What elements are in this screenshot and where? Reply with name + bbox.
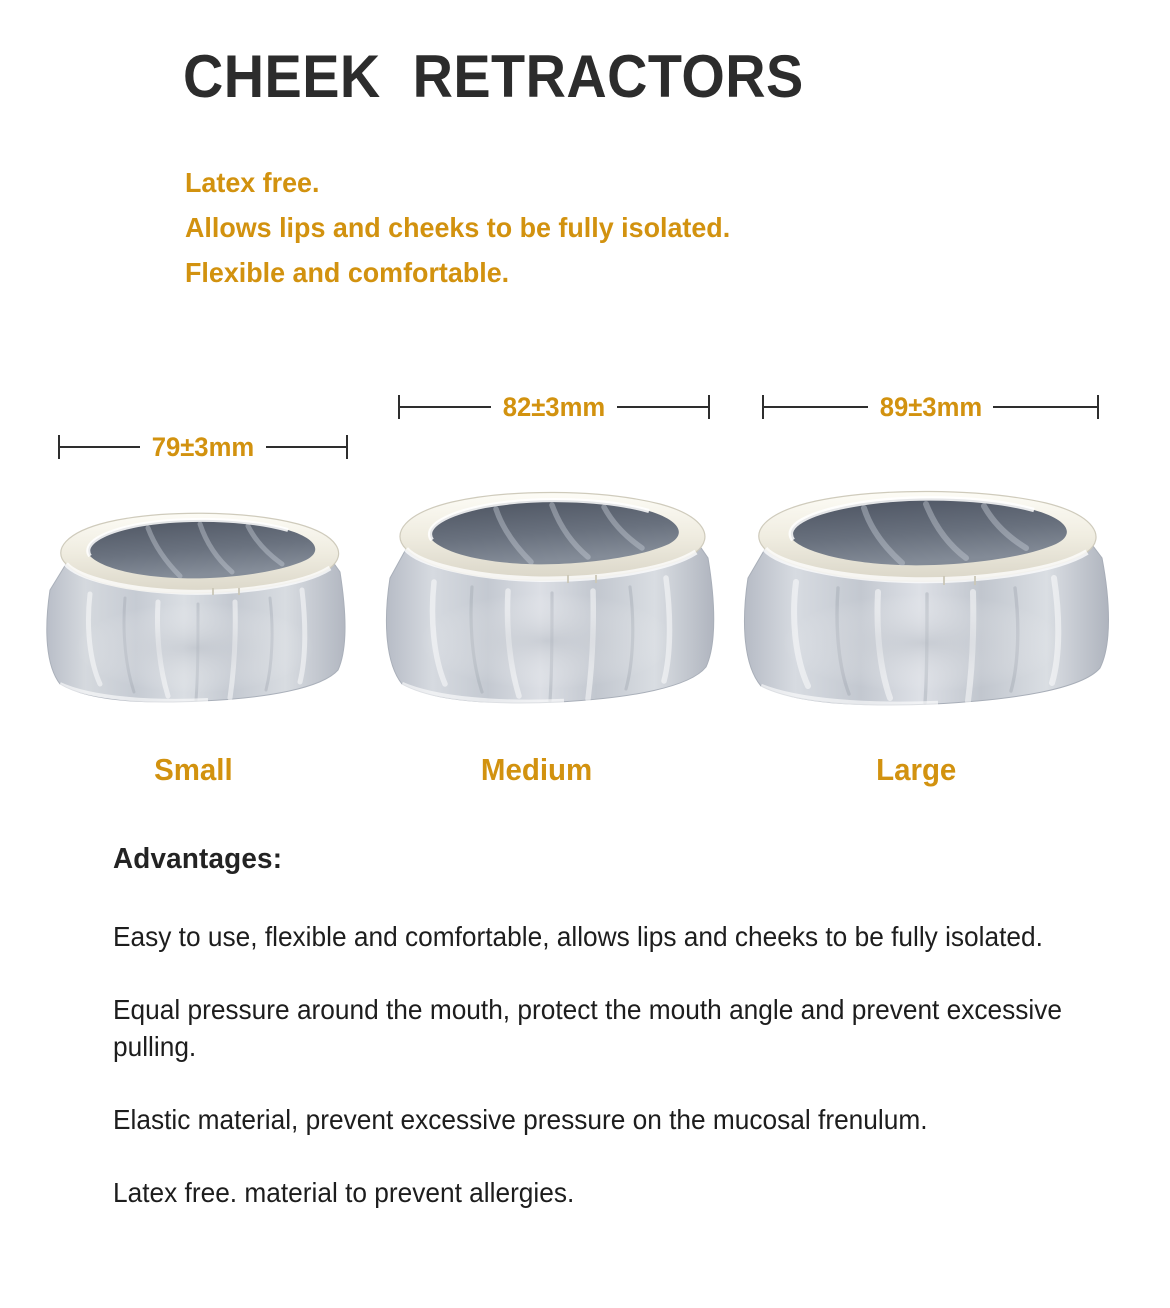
infographic-page: CHEEK RETRACTORS Latex free. Allows lips… bbox=[0, 0, 1170, 1308]
dimension-rule-right bbox=[617, 406, 708, 408]
product-image-medium bbox=[372, 478, 720, 704]
dimension-rule-right bbox=[993, 406, 1097, 408]
size-label-small: Small bbox=[154, 752, 233, 788]
advantage-item: Easy to use, flexible and comfortable, a… bbox=[113, 918, 1087, 955]
dimension-rule-left bbox=[60, 446, 140, 448]
dimension-label-medium: 82±3mm bbox=[494, 392, 614, 423]
dimension-rule-left bbox=[400, 406, 491, 408]
feature-bullet-2: Allows lips and cheeks to be fully isola… bbox=[185, 205, 915, 250]
size-label-medium: Medium bbox=[481, 752, 592, 788]
dimension-bar-medium: 82±3mm bbox=[398, 392, 710, 422]
advantages-heading: Advantages: bbox=[113, 843, 282, 876]
feature-bullet-1: Latex free. bbox=[185, 160, 915, 205]
dimension-bar-large: 89±3mm bbox=[762, 392, 1099, 422]
feature-bullet-3: Flexible and comfortable. bbox=[185, 250, 915, 295]
feature-bullets: Latex free. Allows lips and cheeks to be… bbox=[185, 160, 945, 295]
advantage-item: Latex free. material to prevent allergie… bbox=[113, 1174, 1087, 1211]
size-label-large: Large bbox=[876, 752, 956, 788]
product-image-small bbox=[30, 498, 360, 703]
product-image-large bbox=[730, 478, 1120, 706]
dimension-cap-right bbox=[346, 435, 348, 459]
advantage-item: Equal pressure around the mouth, protect… bbox=[113, 991, 1087, 1065]
dimension-rule-left bbox=[764, 406, 868, 408]
dimension-label-small: 79±3mm bbox=[143, 432, 263, 463]
dimension-cap-right bbox=[708, 395, 710, 419]
advantages-list: Easy to use, flexible and comfortable, a… bbox=[113, 918, 1088, 1211]
page-title: CHEEK RETRACTORS bbox=[183, 45, 804, 109]
dimension-bar-small: 79±3mm bbox=[58, 432, 348, 462]
dimension-label-large: 89±3mm bbox=[871, 392, 991, 423]
advantage-item: Elastic material, prevent excessive pres… bbox=[113, 1101, 1087, 1138]
dimension-cap-right bbox=[1097, 395, 1099, 419]
dimension-rule-right bbox=[266, 446, 346, 448]
